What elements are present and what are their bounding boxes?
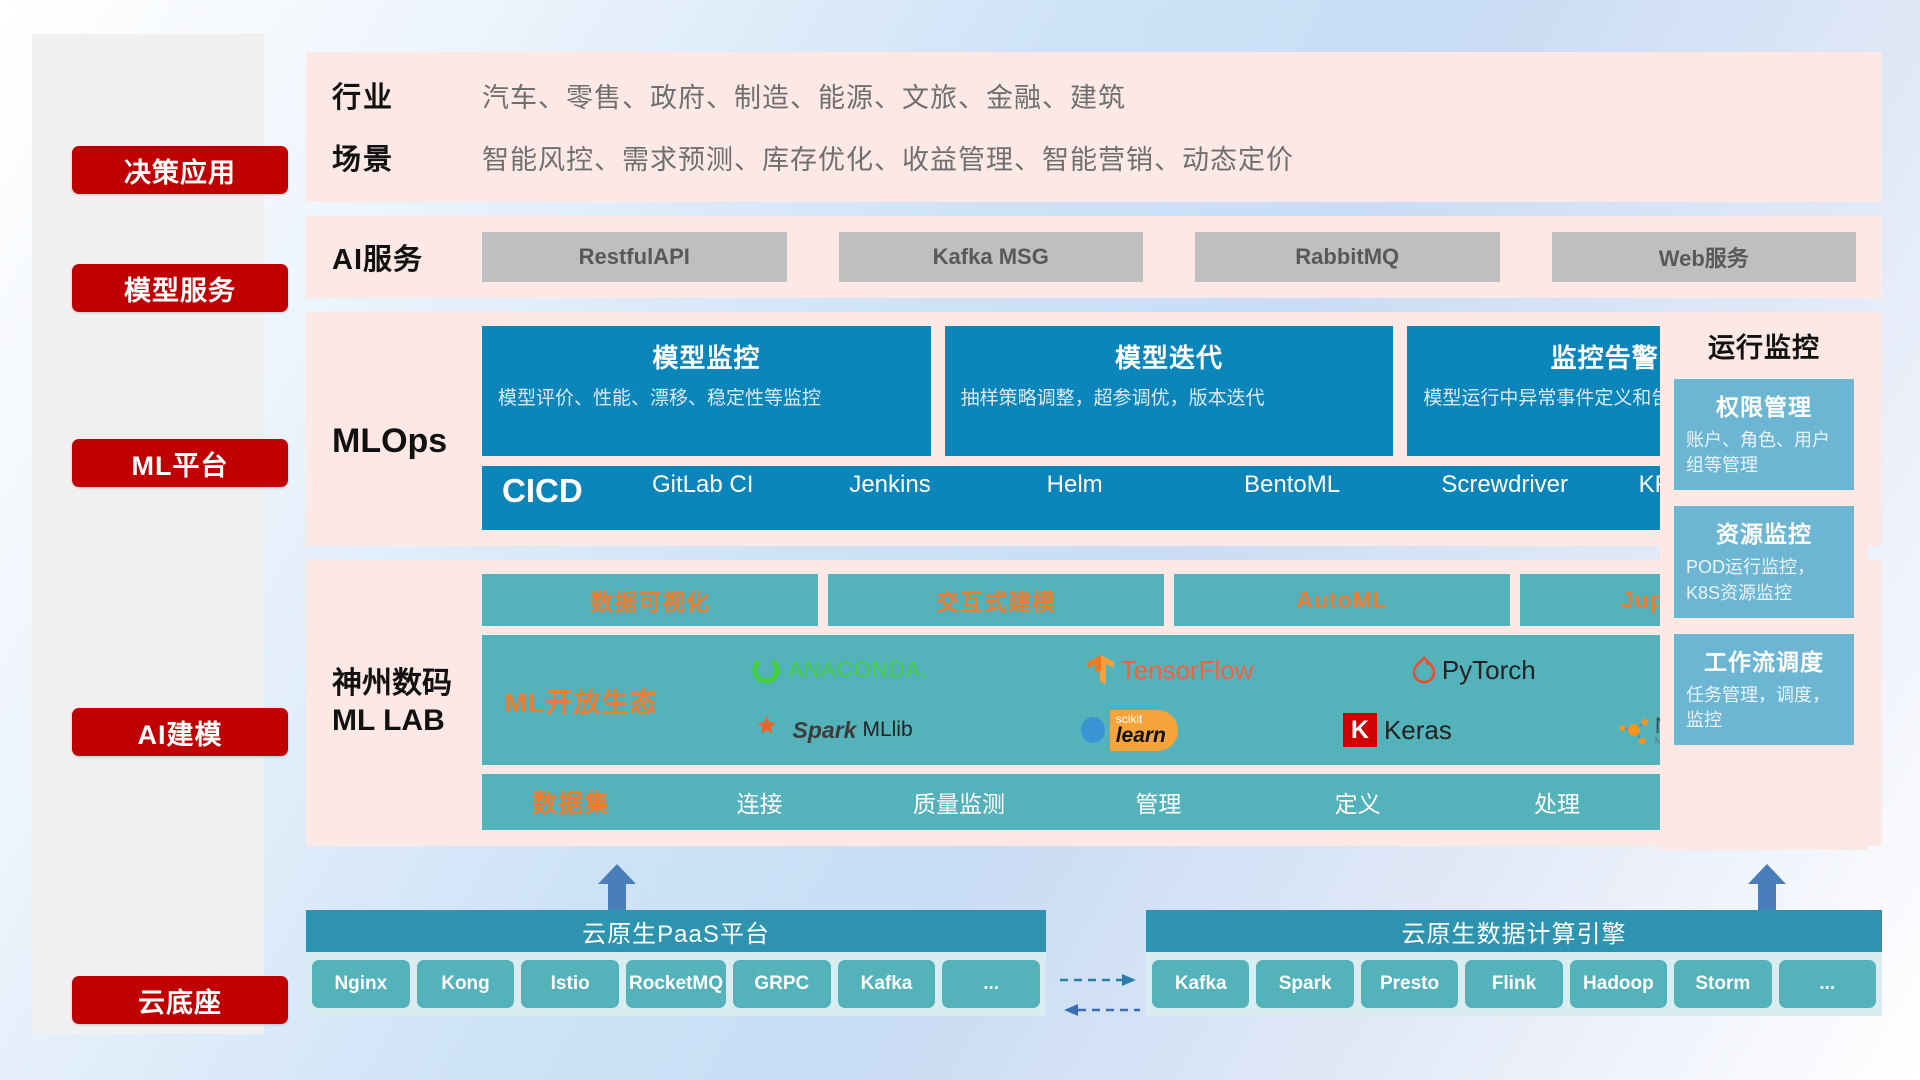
mlops-card-title: 模型迭代: [961, 338, 1378, 375]
monitor-card-permission[interactable]: 权限管理 账户、角色、用户组等管理: [1674, 379, 1854, 490]
mlops-key: MLOps: [332, 326, 482, 461]
monitor-card-title: 工作流调度: [1686, 643, 1842, 677]
monitor-card-desc: 任务管理，调度，监控: [1686, 683, 1842, 733]
cicd-title: CICD: [502, 472, 652, 510]
paas-chip[interactable]: Istio: [521, 960, 619, 1008]
main-stack: 行业 汽车、零售、政府、制造、能源、文旅、金融、建筑 场景 智能风控、需求预测、…: [306, 52, 1882, 860]
ml-open-ecosystem: ML开放生态 ANACONDA. TensorFlow: [482, 635, 1856, 765]
rail-tag-ai-modeling[interactable]: AI建模: [72, 708, 288, 756]
scikit-word: scikit: [1116, 713, 1166, 725]
anaconda-label: ANACONDA.: [789, 657, 929, 683]
mlops-band: MLOps 模型监控 模型评价、性能、漂移、稳定性等监控 模型迭代 抽样策略调整…: [306, 312, 1882, 546]
monitor-card-desc: POD运行监控，K8S资源监控: [1686, 555, 1842, 605]
ml-tool-box[interactable]: 数据可视化: [482, 574, 818, 626]
scenario-row: 场景 智能风控、需求预测、库存优化、收益管理、智能营销、动态定价: [332, 136, 1856, 178]
monitor-card-title: 权限管理: [1686, 388, 1842, 422]
rail-tag-label: ML平台: [132, 444, 229, 483]
cicd-tool[interactable]: Screwdriver: [1441, 472, 1638, 498]
industry-row: 行业 汽车、零售、政府、制造、能源、文旅、金融、建筑: [332, 74, 1856, 116]
ai-service-chip[interactable]: RabbitMQ: [1195, 232, 1500, 282]
eco-label: ML开放生态: [492, 681, 670, 720]
cicd-tool[interactable]: BentoML: [1244, 472, 1441, 498]
ml-tool-box[interactable]: AutoML: [1174, 574, 1510, 626]
rail-tag-label: 模型服务: [124, 269, 236, 308]
data-engine-chip[interactable]: Hadoop: [1570, 960, 1667, 1008]
ai-service-chip[interactable]: Web服务: [1552, 232, 1857, 282]
data-engine-chip[interactable]: ...: [1779, 960, 1876, 1008]
ml-lab-key-line1: 神州数码: [332, 665, 482, 703]
data-engine-title: 云原生数据计算引擎: [1146, 910, 1882, 952]
cicd-tool[interactable]: GitLab CI: [652, 472, 849, 498]
cicd-tool[interactable]: Helm: [1047, 472, 1244, 498]
mlops-card[interactable]: 模型迭代 抽样策略调整，超参调优，版本迭代: [945, 326, 1394, 456]
dataset-item[interactable]: 连接: [660, 785, 859, 819]
mlops-card-desc: 模型评价、性能、漂移、稳定性等监控: [498, 385, 915, 413]
ai-service-band: AI服务 RestfulAPI Kafka MSG RabbitMQ Web服务: [306, 216, 1882, 298]
bidirectional-link-arrows: [1058, 964, 1142, 1024]
ml-lab-content: 数据可视化 交互式建模 AutoML JupyterLab ML开放生态 ANA…: [482, 574, 1856, 830]
monitor-title: 运行监控: [1674, 326, 1854, 365]
paas-chip[interactable]: Kong: [417, 960, 515, 1008]
up-arrow-icon: [596, 864, 638, 910]
ai-service-chip[interactable]: Kafka MSG: [839, 232, 1144, 282]
ml-lab-key: 神州数码 ML LAB: [332, 574, 482, 830]
paas-chip[interactable]: RocketMQ: [626, 960, 726, 1008]
rail-tag-decision-application[interactable]: 决策应用: [72, 146, 288, 194]
paas-chip[interactable]: Nginx: [312, 960, 410, 1008]
data-engine-chip[interactable]: Kafka: [1152, 960, 1249, 1008]
ml-tool-list: 数据可视化 交互式建模 AutoML JupyterLab: [482, 574, 1856, 626]
mlops-card-desc: 抽样策略调整，超参调优，版本迭代: [961, 385, 1378, 413]
ai-modeling-band: 神州数码 ML LAB 数据可视化 交互式建模 AutoML JupyterLa…: [306, 560, 1882, 846]
monitor-card-title: 资源监控: [1686, 515, 1842, 549]
ai-service-chip[interactable]: RestfulAPI: [482, 232, 787, 282]
mllib-label: MLlib: [862, 718, 912, 742]
monitor-card-desc: 账户、角色、用户组等管理: [1686, 428, 1842, 478]
industry-key: 行业: [332, 74, 482, 116]
ai-service-chip-list: RestfulAPI Kafka MSG RabbitMQ Web服务: [482, 232, 1856, 282]
paas-chip[interactable]: ...: [942, 960, 1040, 1008]
rail-tag-label: 决策应用: [124, 151, 236, 190]
architecture-diagram: 决策应用 模型服务 ML平台 AI建模 云底座 行业 汽车、零售、政府、制造、能…: [0, 0, 1920, 1080]
mlops-content: 模型监控 模型评价、性能、漂移、稳定性等监控 模型迭代 抽样策略调整，超参调优，…: [482, 326, 1856, 530]
rail-tag-cloud-foundation[interactable]: 云底座: [72, 976, 288, 1024]
keras-logo: K Keras: [1343, 713, 1452, 747]
up-arrow-icon: [1746, 864, 1788, 910]
data-engine-chip-list: Kafka Spark Presto Flink Hadoop Storm ..…: [1146, 952, 1882, 1016]
data-engine-chip[interactable]: Storm: [1674, 960, 1771, 1008]
data-engine-chip[interactable]: Spark: [1256, 960, 1353, 1008]
industry-value: 汽车、零售、政府、制造、能源、文旅、金融、建筑: [482, 76, 1126, 115]
cloud-foundation-band: 云原生PaaS平台 Nginx Kong Istio RocketMQ GRPC…: [306, 868, 1882, 1028]
tensorflow-logo: TensorFlow: [1086, 653, 1254, 687]
tensorflow-label: TensorFlow: [1121, 655, 1254, 686]
cicd-tool-list: GitLab CI Jenkins Helm BentoML Screwdriv…: [652, 472, 1836, 498]
layer-rail: 决策应用 模型服务 ML平台 AI建模 云底座: [32, 34, 264, 1034]
paas-chip-list: Nginx Kong Istio RocketMQ GRPC Kafka ...: [306, 952, 1046, 1016]
data-engine-group: 云原生数据计算引擎 Kafka Spark Presto Flink Hadoo…: [1146, 910, 1882, 1016]
decision-application-band: 行业 汽车、零售、政府、制造、能源、文旅、金融、建筑 场景 智能风控、需求预测、…: [306, 52, 1882, 202]
learn-word: learn: [1116, 725, 1166, 746]
mlops-card-list: 模型监控 模型评价、性能、漂移、稳定性等监控 模型迭代 抽样策略调整，超参调优，…: [482, 326, 1856, 456]
paas-platform-group: 云原生PaaS平台 Nginx Kong Istio RocketMQ GRPC…: [306, 910, 1046, 1016]
dataset-item[interactable]: 质量监测: [859, 785, 1058, 819]
ai-service-key: AI服务: [332, 236, 482, 278]
cicd-tool[interactable]: Jenkins: [849, 472, 1046, 498]
pytorch-logo: PyTorch: [1411, 655, 1536, 686]
dataset-label: 数据集: [482, 784, 660, 820]
paas-chip[interactable]: Kafka: [838, 960, 936, 1008]
mlops-card[interactable]: 模型监控 模型评价、性能、漂移、稳定性等监控: [482, 326, 931, 456]
dataset-item[interactable]: 定义: [1258, 785, 1457, 819]
paas-chip[interactable]: GRPC: [733, 960, 831, 1008]
scikit-learn-logo: scikit learn: [1078, 710, 1178, 751]
data-engine-chip[interactable]: Flink: [1465, 960, 1562, 1008]
scenario-key: 场景: [332, 136, 482, 178]
mlops-card-title: 模型监控: [498, 338, 915, 375]
scenario-value: 智能风控、需求预测、库存优化、收益管理、智能营销、动态定价: [482, 138, 1294, 177]
keras-label: Keras: [1384, 715, 1452, 746]
monitor-card-workflow[interactable]: 工作流调度 任务管理，调度，监控: [1674, 634, 1854, 745]
paas-platform-title: 云原生PaaS平台: [306, 910, 1046, 952]
monitor-card-resource[interactable]: 资源监控 POD运行监控，K8S资源监控: [1674, 506, 1854, 617]
pytorch-label: PyTorch: [1442, 655, 1536, 686]
ml-lab-key-line2: ML LAB: [332, 702, 482, 740]
dataset-row: 数据集 连接 质量监测 管理 定义 处理 加载: [482, 774, 1856, 830]
cicd-bar: CICD GitLab CI Jenkins Helm BentoML Scre…: [482, 466, 1856, 530]
spark-label: Spark: [793, 717, 857, 744]
dataset-item[interactable]: 处理: [1457, 785, 1656, 819]
rail-tag-label: 云底座: [138, 981, 222, 1020]
rail-tag-ml-platform[interactable]: ML平台: [72, 439, 288, 487]
anaconda-logo: ANACONDA.: [749, 653, 929, 687]
keras-mark: K: [1343, 713, 1377, 747]
ml-tool-box[interactable]: 交互式建模: [828, 574, 1164, 626]
dataset-item[interactable]: 管理: [1059, 785, 1258, 819]
spark-mllib-logo: Spark MLlib: [753, 714, 913, 746]
rail-tag-model-service[interactable]: 模型服务: [72, 264, 288, 312]
data-engine-chip[interactable]: Presto: [1361, 960, 1458, 1008]
runtime-monitor-panel: 运行监控 权限管理 账户、角色、用户组等管理 资源监控 POD运行监控，K8S资…: [1660, 314, 1868, 850]
rail-tag-label: AI建模: [138, 713, 223, 752]
